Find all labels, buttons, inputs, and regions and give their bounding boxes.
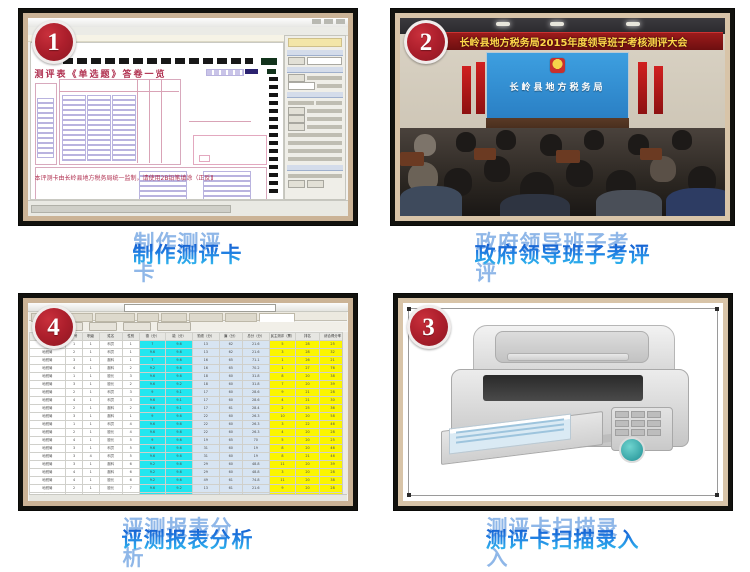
cell-neng[interactable]: 9.1: [166, 389, 193, 397]
cell-no[interactable]: 4: [66, 437, 83, 445]
cell-qin[interactable]: 22: [192, 421, 219, 429]
cell-lian[interactable]: 65: [219, 357, 242, 365]
left-bubble-rows[interactable]: [37, 98, 54, 158]
cell-unit[interactable]: 地税局: [29, 389, 66, 397]
cell-paim[interactable]: 21: [296, 397, 319, 405]
cell-unit[interactable]: 地税局: [29, 365, 66, 373]
cell-paim[interactable]: 28: [296, 341, 319, 349]
cell-de[interactable]: 9.6: [139, 485, 166, 493]
cell-rank[interactable]: 4: [82, 453, 99, 461]
tab-people-list[interactable]: [95, 313, 135, 322]
cell-piao[interactable]: 2: [269, 405, 296, 413]
cell-neng[interactable]: 9.6: [166, 469, 193, 477]
report-table-body[interactable]: 地税局11科员179.6136221.652825地税局21科员19.69.61…: [29, 341, 346, 495]
table-row[interactable]: 地税局31副科69.29.6296048.8112039: [29, 461, 346, 469]
cell-qin[interactable]: 19: [192, 437, 219, 445]
cell-piao[interactable]: 8: [269, 373, 296, 381]
cell-unit[interactable]: 地税局: [29, 349, 66, 357]
cell-name[interactable]: 股长: [99, 485, 122, 493]
cell-rank[interactable]: 1: [82, 461, 99, 469]
window-controls[interactable]: [312, 19, 345, 24]
cell-de[interactable]: 7: [139, 357, 166, 365]
cell-sex[interactable]: 2: [122, 381, 139, 389]
panel-button-7[interactable]: [288, 123, 305, 131]
cell-lian[interactable]: 61: [219, 405, 242, 413]
cell-paim[interactable]: 20: [296, 485, 319, 493]
cell-de[interactable]: 9.2: [139, 365, 166, 373]
cell-name[interactable]: 股长: [99, 429, 122, 437]
bubble-col-1[interactable]: [62, 95, 86, 161]
cell-sex[interactable]: 5: [122, 437, 139, 445]
cell-total[interactable]: 21.6: [242, 485, 269, 493]
cell-rank[interactable]: 1: [82, 349, 99, 357]
cell-qin[interactable]: 49: [192, 477, 219, 485]
cell-no[interactable]: 3: [66, 445, 83, 453]
cell-rank[interactable]: 1: [82, 365, 99, 373]
cell-rank[interactable]: 1: [82, 445, 99, 453]
tab-report-analysis[interactable]: [259, 313, 295, 322]
panel-row-12[interactable]: [288, 173, 342, 179]
cell-sex[interactable]: 3: [122, 373, 139, 381]
cell-qin[interactable]: 17: [192, 389, 219, 397]
table-row[interactable]: 地税局41副科29.29.6166570.212776: [29, 365, 346, 373]
keypad-key[interactable]: [631, 420, 645, 427]
panel-tab-active[interactable]: [288, 38, 342, 47]
cell-paim[interactable]: 20: [296, 477, 319, 485]
cell-total[interactable]: 21.6: [242, 341, 269, 349]
panel-row-11[interactable]: [288, 156, 342, 162]
cell-piao[interactable]: 8: [269, 453, 296, 461]
cell-paim[interactable]: 26: [296, 357, 319, 365]
cell-qin[interactable]: 13: [192, 349, 219, 357]
app-tabs[interactable]: [29, 312, 347, 321]
cell-sex[interactable]: 6: [122, 461, 139, 469]
table-row[interactable]: 地税局41股长69.29.6496174.8112038: [29, 477, 346, 485]
cell-lian[interactable]: 62: [219, 349, 242, 357]
cell-lian[interactable]: 60: [219, 397, 242, 405]
cell-neng[interactable]: 9.2: [166, 381, 193, 389]
cell-lian[interactable]: 62: [219, 341, 242, 349]
cell-de[interactable]: 9.6: [139, 381, 166, 389]
selection-handle-bl[interactable]: [407, 493, 411, 497]
panel-row-13[interactable]: [288, 181, 342, 187]
table-row[interactable]: 地税局31副科199.6226026.3102058: [29, 413, 346, 421]
cell-neng[interactable]: 9.6: [166, 461, 193, 469]
cell-sex[interactable]: 5: [122, 445, 139, 453]
table-row[interactable]: 地税局31股长29.69.2186031.872039: [29, 381, 346, 389]
cell-neng[interactable]: 9.6: [166, 453, 193, 461]
scanner-keypad[interactable]: [615, 411, 661, 436]
cell-piao[interactable]: 4: [269, 429, 296, 437]
panel-row-7[interactable]: [288, 124, 342, 130]
cell-rank[interactable]: 1: [82, 413, 99, 421]
cell-de[interactable]: 7: [139, 341, 166, 349]
cell-no[interactable]: 2: [66, 349, 83, 357]
cell-piao[interactable]: 4: [269, 397, 296, 405]
cell-name[interactable]: 科员: [99, 389, 122, 397]
cell-lian[interactable]: 60: [219, 469, 242, 477]
cell-name[interactable]: 科员: [99, 397, 122, 405]
cell-name[interactable]: 科员: [99, 341, 122, 349]
cell-piao[interactable]: 3: [269, 469, 296, 477]
cell-sex[interactable]: 3: [122, 397, 139, 405]
cell-paim[interactable]: 20: [296, 429, 319, 437]
cell-paim[interactable]: 28: [296, 349, 319, 357]
cell-lian[interactable]: 65: [219, 437, 242, 445]
cell-lian[interactable]: 60: [219, 461, 242, 469]
cell-lian[interactable]: 61: [219, 485, 242, 493]
cell-rank[interactable]: 1: [82, 485, 99, 493]
cell-unit[interactable]: 地税局: [29, 453, 66, 461]
tab-questions[interactable]: [161, 313, 187, 322]
cell-rank[interactable]: 1: [82, 397, 99, 405]
cell-piao[interactable]: 10: [269, 413, 296, 421]
cell-lian[interactable]: 60: [219, 445, 242, 453]
horizontal-scrollbar[interactable]: [29, 494, 347, 501]
cell-no[interactable]: 4: [66, 477, 83, 485]
cell-piao[interactable]: 5: [269, 437, 296, 445]
cell-rank[interactable]: 1: [82, 405, 99, 413]
cell-no[interactable]: 3: [66, 461, 83, 469]
cell-no[interactable]: 4: [66, 397, 83, 405]
cell-de[interactable]: 9.6: [139, 421, 166, 429]
cell-qin[interactable]: 17: [192, 405, 219, 413]
table-row[interactable]: 地税局11科员179.6136221.652825: [29, 341, 346, 349]
cell-paim[interactable]: 27: [296, 365, 319, 373]
table-row[interactable]: 地税局21股长49.69.6226026.342028: [29, 429, 346, 437]
keypad-key[interactable]: [615, 420, 629, 427]
cell-lian[interactable]: 65: [219, 365, 242, 373]
cell-paim[interactable]: 20: [296, 437, 319, 445]
keypad-key[interactable]: [647, 420, 661, 427]
cell-name[interactable]: 副科: [99, 357, 122, 365]
keypad-key[interactable]: [631, 429, 645, 436]
cell-qin[interactable]: 16: [192, 357, 219, 365]
cell-sex[interactable]: 3: [122, 389, 139, 397]
cell-sex[interactable]: 1: [122, 357, 139, 365]
cell-sex[interactable]: 7: [122, 485, 139, 493]
cell-unit[interactable]: 地税局: [29, 469, 66, 477]
cell-lian[interactable]: 60: [219, 421, 242, 429]
bubble-col-2[interactable]: [87, 95, 111, 161]
cell-paim[interactable]: 20: [296, 373, 319, 381]
cell-paim[interactable]: 21: [296, 453, 319, 461]
tab-cards[interactable]: [137, 313, 159, 322]
report-sheet[interactable]: 单位 序号 职级 姓名 性别 德（分） 能（分） 勤绩（分） 廉（分）: [29, 332, 347, 494]
cell-unit[interactable]: 地税局: [29, 381, 66, 389]
cell-piao[interactable]: 8: [269, 445, 296, 453]
cell-no[interactable]: 2: [66, 485, 83, 493]
cell-no[interactable]: 1: [66, 421, 83, 429]
cell-unit[interactable]: 地税局: [29, 445, 66, 453]
app-button-row[interactable]: [29, 322, 347, 331]
cell-sex[interactable]: 6: [122, 469, 139, 477]
cell-total[interactable]: 74.8: [242, 477, 269, 485]
cell-total[interactable]: 26.3: [242, 429, 269, 437]
cell-name[interactable]: 股长: [99, 437, 122, 445]
cell-unit[interactable]: 地税局: [29, 485, 66, 493]
cell-neng[interactable]: 9.6: [166, 341, 193, 349]
cell-unit[interactable]: 地税局: [29, 405, 66, 413]
cell-lian[interactable]: 60: [219, 429, 242, 437]
cell-qin[interactable]: 22: [192, 429, 219, 437]
panel-button-1[interactable]: [288, 57, 305, 65]
cell-de[interactable]: 9.2: [139, 477, 166, 485]
table-row[interactable]: 地税局41股长599.619657052025: [29, 437, 346, 445]
cell-neng[interactable]: 9.6: [166, 349, 193, 357]
cell-sex[interactable]: 1: [122, 413, 139, 421]
horizontal-scrollbar[interactable]: [31, 205, 231, 213]
panel-button-5[interactable]: [288, 107, 305, 115]
panel-row-8[interactable]: [288, 132, 342, 138]
cell-paim[interactable]: 22: [296, 421, 319, 429]
maximize-icon[interactable]: [324, 19, 333, 24]
panel-row-3[interactable]: [288, 83, 342, 89]
cell-qin[interactable]: 17: [192, 397, 219, 405]
cell-qin[interactable]: 13: [192, 485, 219, 493]
selection-handle-br[interactable]: [715, 493, 719, 497]
table-row[interactable]: 地税局31副科179.6166571.112621: [29, 357, 346, 365]
cell-de[interactable]: 9: [139, 389, 166, 397]
cell-neng[interactable]: 9.1: [166, 405, 193, 413]
selection-handle-tr[interactable]: [715, 307, 719, 311]
scanner-start-dial[interactable]: [619, 437, 645, 463]
cell-de[interactable]: 9.6: [139, 397, 166, 405]
cell-neng[interactable]: 9.6: [166, 477, 193, 485]
cell-name[interactable]: 股长: [99, 477, 122, 485]
panel-row-4[interactable]: [288, 100, 342, 106]
panel-row-9[interactable]: [288, 140, 342, 146]
cell-rank[interactable]: 1: [82, 389, 99, 397]
cell-unit[interactable]: 地税局: [29, 477, 66, 485]
cell-de[interactable]: 9.6: [139, 429, 166, 437]
cell-name[interactable]: 副科: [99, 469, 122, 477]
cell-name[interactable]: 科员: [99, 421, 122, 429]
cell-piao[interactable]: 9: [269, 485, 296, 493]
cell-sex[interactable]: 2: [122, 405, 139, 413]
cell-name[interactable]: 副科: [99, 413, 122, 421]
cell-total[interactable]: 28.6: [242, 389, 269, 397]
export-button[interactable]: [89, 322, 117, 331]
cell-unit[interactable]: 地税局: [29, 397, 66, 405]
cell-total[interactable]: 19: [242, 453, 269, 461]
cell-unit[interactable]: 地税局: [29, 357, 66, 365]
panel-button-2[interactable]: [288, 74, 305, 82]
cell-total[interactable]: 48.8: [242, 469, 269, 477]
selection-handle-tl[interactable]: [407, 307, 411, 311]
print-button[interactable]: [123, 322, 151, 331]
cell-no[interactable]: 1: [66, 373, 83, 381]
cell-total[interactable]: 31.8: [242, 373, 269, 381]
tab-data-entry[interactable]: [225, 313, 257, 322]
cell-no[interactable]: 2: [66, 429, 83, 437]
cell-name[interactable]: 副科: [99, 405, 122, 413]
table-row[interactable]: 地税局31科员59.69.631601982046: [29, 445, 346, 453]
cell-piao[interactable]: 3: [269, 421, 296, 429]
cell-lian[interactable]: 60: [219, 389, 242, 397]
cell-piao[interactable]: 11: [269, 461, 296, 469]
cell-de[interactable]: 9.6: [139, 405, 166, 413]
panel-row-5[interactable]: [288, 108, 342, 114]
cell-de[interactable]: 9.2: [139, 469, 166, 477]
cell-name[interactable]: 科员: [99, 445, 122, 453]
panel-field-3[interactable]: [288, 82, 315, 90]
cell-paim[interactable]: 20: [296, 413, 319, 421]
cell-total[interactable]: 21.6: [242, 349, 269, 357]
cell-unit[interactable]: 地税局: [29, 421, 66, 429]
cell-paim[interactable]: 25: [296, 405, 319, 413]
cell-de[interactable]: 9.6: [139, 349, 166, 357]
cell-rank[interactable]: 1: [82, 421, 99, 429]
cell-sex[interactable]: 6: [122, 477, 139, 485]
cell-name[interactable]: 副科: [99, 365, 122, 373]
cell-paim[interactable]: 20: [296, 381, 319, 389]
cell-neng[interactable]: 9.6: [166, 445, 193, 453]
card-canvas[interactable]: 测评表《单选题》答卷一览: [30, 42, 284, 200]
refresh-button[interactable]: [157, 322, 191, 331]
cell-name[interactable]: 副科: [99, 461, 122, 469]
cell-qin[interactable]: 31: [192, 445, 219, 453]
cell-paim[interactable]: 20: [296, 469, 319, 477]
properties-panel[interactable]: [284, 35, 346, 200]
cell-total[interactable]: 26.3: [242, 413, 269, 421]
report-select-combo[interactable]: [124, 304, 276, 312]
cell-neng[interactable]: 9.6: [166, 413, 193, 421]
keypad-key[interactable]: [631, 411, 645, 418]
cell-qin[interactable]: 18: [192, 373, 219, 381]
cell-piao[interactable]: 11: [269, 477, 296, 485]
table-row[interactable]: 地税局41副科69.29.6296048.832028: [29, 469, 346, 477]
panel-button-13b[interactable]: [307, 180, 324, 188]
cell-de[interactable]: 9.6: [139, 453, 166, 461]
cell-sex[interactable]: 5: [122, 453, 139, 461]
cell-qin[interactable]: 29: [192, 461, 219, 469]
cell-total[interactable]: 28.6: [242, 397, 269, 405]
cell-total[interactable]: 48.8: [242, 461, 269, 469]
cell-sex[interactable]: 1: [122, 341, 139, 349]
cell-neng[interactable]: 9.6: [166, 373, 193, 381]
cell-unit[interactable]: 地税局: [29, 429, 66, 437]
cell-de[interactable]: 9: [139, 437, 166, 445]
panel-button-13[interactable]: [288, 180, 305, 188]
keypad-key[interactable]: [647, 429, 661, 436]
cell-no[interactable]: 4: [66, 365, 83, 373]
cell-total[interactable]: 70.2: [242, 365, 269, 373]
cell-name[interactable]: 股长: [99, 381, 122, 389]
cell-neng[interactable]: 9.6: [166, 357, 193, 365]
cell-piao[interactable]: 9: [269, 389, 296, 397]
cell-rank[interactable]: 1: [82, 357, 99, 365]
bubble-col-3[interactable]: [112, 95, 136, 161]
minimize-icon[interactable]: [312, 19, 321, 24]
cell-qin[interactable]: 16: [192, 365, 219, 373]
cell-neng[interactable]: 9.6: [166, 365, 193, 373]
table-row[interactable]: 地税局21副科29.69.1176128.422536: [29, 405, 346, 413]
cell-qin[interactable]: 13: [192, 341, 219, 349]
cell-neng[interactable]: 9.6: [166, 421, 193, 429]
panel-row-1[interactable]: [288, 58, 342, 64]
cell-rank[interactable]: 1: [82, 437, 99, 445]
cell-qin[interactable]: 22: [192, 413, 219, 421]
cell-no[interactable]: 2: [66, 389, 83, 397]
table-row[interactable]: 地税局11股长39.69.6186031.882038: [29, 373, 346, 381]
cell-lian[interactable]: 60: [219, 453, 242, 461]
panel-field-1[interactable]: [307, 57, 342, 65]
cell-piao[interactable]: 5: [269, 341, 296, 349]
cell-total[interactable]: 26.3: [242, 421, 269, 429]
cell-sex[interactable]: 4: [122, 421, 139, 429]
panel-row-10[interactable]: [288, 148, 342, 154]
cell-neng[interactable]: 9.1: [166, 397, 193, 405]
cell-lian[interactable]: 60: [219, 381, 242, 389]
cell-piao[interactable]: 3: [269, 349, 296, 357]
table-row[interactable]: 地税局41科员39.69.1176028.642130: [29, 397, 346, 405]
cell-total[interactable]: 70: [242, 437, 269, 445]
cell-total[interactable]: 28.4: [242, 405, 269, 413]
cell-de[interactable]: 9.2: [139, 461, 166, 469]
table-row[interactable]: 地税局21股长79.69.2136121.692028: [29, 485, 346, 493]
cell-de[interactable]: 9: [139, 413, 166, 421]
cell-sex[interactable]: 4: [122, 429, 139, 437]
cell-rank[interactable]: 1: [82, 429, 99, 437]
cell-total[interactable]: 19: [242, 445, 269, 453]
cell-rank[interactable]: 1: [82, 341, 99, 349]
cell-name[interactable]: 科员: [99, 349, 122, 357]
cell-no[interactable]: 3: [66, 413, 83, 421]
cell-name[interactable]: 科员: [99, 453, 122, 461]
cell-rank[interactable]: 1: [82, 469, 99, 477]
cell-no[interactable]: 3: [66, 381, 83, 389]
table-row[interactable]: 地税局34科员59.69.631601982146: [29, 453, 346, 461]
report-table[interactable]: 单位 序号 职级 姓名 性别 德（分） 能（分） 勤绩（分） 廉（分）: [29, 332, 347, 494]
panel-row-2[interactable]: [288, 75, 342, 81]
cell-lian[interactable]: 60: [219, 413, 242, 421]
cell-unit[interactable]: 地税局: [29, 437, 66, 445]
cell-lian[interactable]: 61: [219, 477, 242, 485]
cell-neng[interactable]: 9.6: [166, 429, 193, 437]
cell-no[interactable]: 4: [66, 469, 83, 477]
cell-neng[interactable]: 9.2: [166, 485, 193, 493]
cell-rank[interactable]: 1: [82, 381, 99, 389]
cell-piao[interactable]: 7: [269, 381, 296, 389]
panel-button-6[interactable]: [288, 115, 305, 123]
cell-name[interactable]: 股长: [99, 373, 122, 381]
cell-neng[interactable]: 9.6: [166, 437, 193, 445]
table-row[interactable]: 地税局21科员399.1176028.692128: [29, 389, 346, 397]
cell-paim[interactable]: 20: [296, 461, 319, 469]
cell-total[interactable]: 31.8: [242, 381, 269, 389]
cell-no[interactable]: 3: [66, 357, 83, 365]
keypad-key[interactable]: [615, 429, 629, 436]
cell-paim[interactable]: 20: [296, 445, 319, 453]
cell-qin[interactable]: 29: [192, 469, 219, 477]
cell-unit[interactable]: 地税局: [29, 461, 66, 469]
cell-rank[interactable]: 1: [82, 477, 99, 485]
vertical-scrollbar[interactable]: [342, 332, 348, 494]
table-row[interactable]: 地税局21科员19.69.6136221.632832: [29, 349, 346, 357]
keypad-key[interactable]: [615, 411, 629, 418]
cell-paim[interactable]: 21: [296, 389, 319, 397]
cell-sex[interactable]: 1: [122, 349, 139, 357]
cell-no[interactable]: 2: [66, 405, 83, 413]
cell-total[interactable]: 71.1: [242, 357, 269, 365]
cell-no[interactable]: 3: [66, 453, 83, 461]
cell-rank[interactable]: 1: [82, 373, 99, 381]
close-icon[interactable]: [336, 19, 345, 24]
cell-lian[interactable]: 60: [219, 373, 242, 381]
cell-piao[interactable]: 1: [269, 365, 296, 373]
tab-score-rules[interactable]: [189, 313, 223, 322]
